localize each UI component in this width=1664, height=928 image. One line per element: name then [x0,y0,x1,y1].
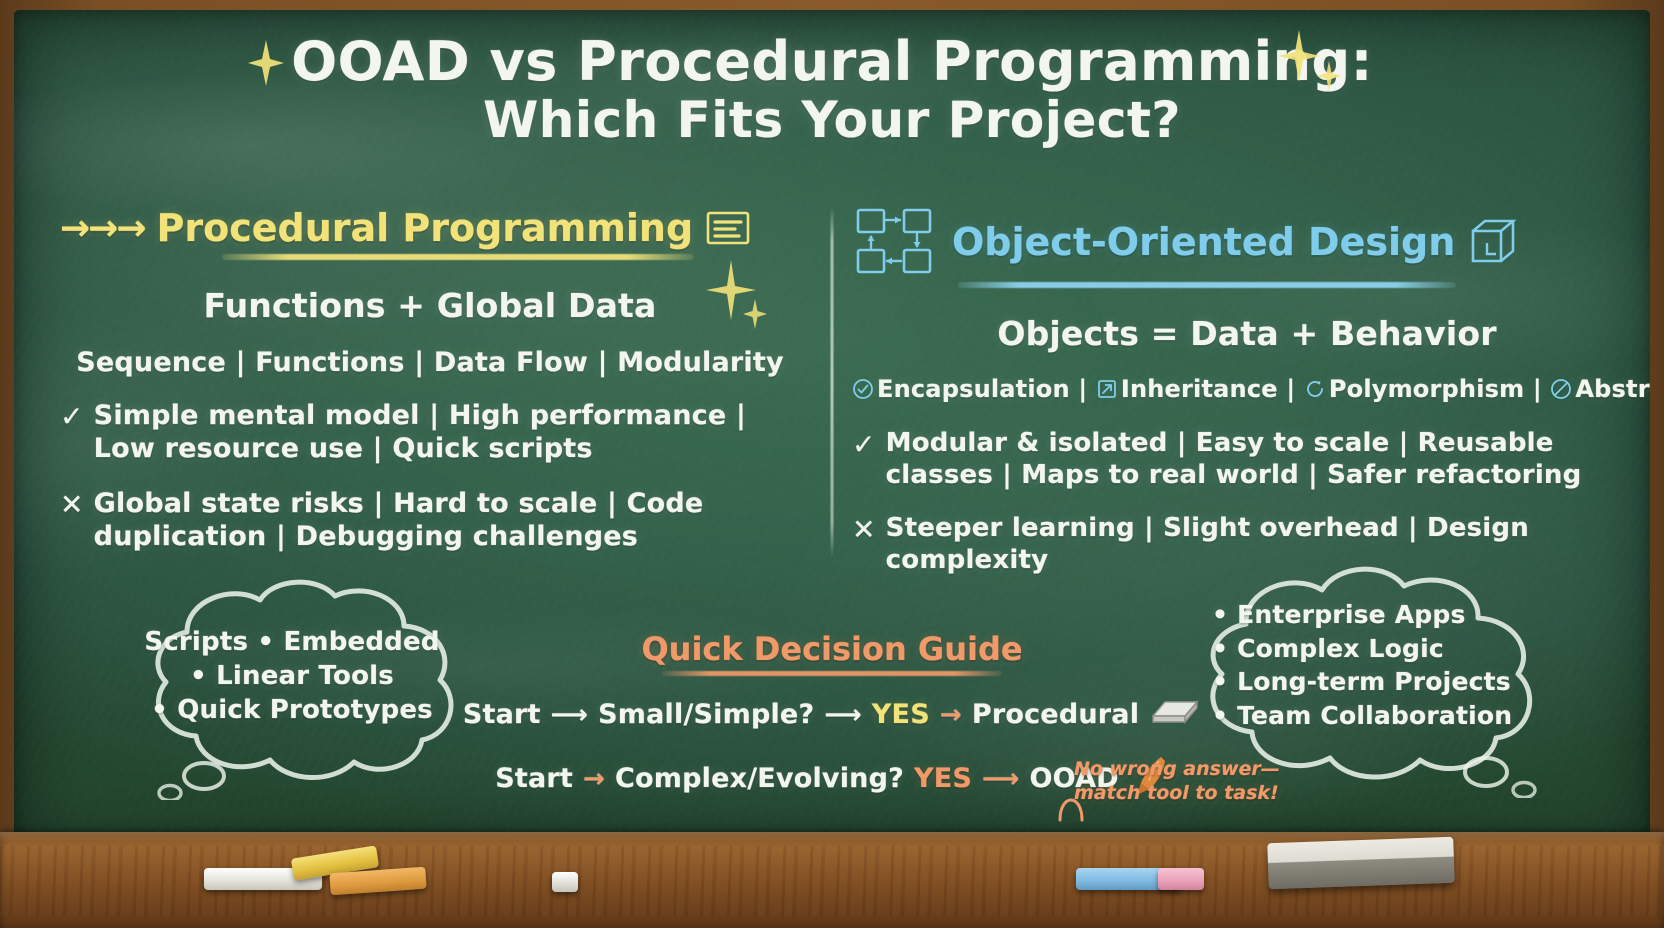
arrow-right-icon: → [940,700,962,730]
triple-arrow-icon: →→→ [60,208,145,249]
cloud-line: • Enterprise Apps [1212,598,1544,632]
chalk-small-white[interactable] [552,872,578,892]
ooad-pros-row: ✓ Modular & isolated | Easy to scale | R… [852,428,1642,491]
chalkboard-infographic: OOAD vs Procedural Programming: Which Fi… [0,0,1664,928]
arrow-right-icon: ⟶ [982,764,1019,794]
check-icon: ✓ [60,400,84,433]
pillar-label-abstraction: Abstraction [1575,375,1650,403]
decision-result: Procedural [972,699,1139,730]
procedural-pros-row: ✓ Simple mental model | High performance… [60,400,800,466]
decision-start: Start [495,763,573,794]
cloud-line: • Team Collaboration [1212,699,1544,733]
arrow-right-icon: ⟶ [824,700,861,730]
column-divider [831,206,834,558]
title-line-1: OOAD vs Procedural Programming: [14,32,1650,92]
decision-question: Complex/Evolving? [615,763,904,794]
note-line-1: No wrong answer— [1074,758,1304,782]
ooad-subtitle: Objects = Data + Behavior [852,314,1642,353]
cloud-line: • Linear Tools [126,660,458,694]
page-title: OOAD vs Procedural Programming: Which Fi… [14,32,1650,148]
arrow-right-icon: ⟶ [551,700,588,730]
procedural-heading: →→→ Procedural Programming [60,206,800,250]
procedural-heading-underline [222,254,694,260]
check-circle-icon [852,378,874,406]
procedural-subtitle: Functions + Global Data [60,286,800,325]
arrow-right-icon: → [583,764,605,794]
note-squiggle-icon [1054,780,1088,824]
title-line-2: Which Fits Your Project? [14,92,1650,148]
document-lines-icon [705,209,751,247]
ooad-pros-text: Modular & isolated | Easy to scale | Reu… [886,428,1642,491]
cloud-line: • Complex Logic [1212,632,1544,666]
check-icon: ✓ [852,428,876,461]
eraser[interactable] [1267,837,1454,889]
pillar-sep: | [1286,375,1295,403]
guide-title-underline [662,671,1002,676]
procedural-usecases-cloud: Scripts • Embedded • Linear Tools • Quic… [92,570,492,800]
ooad-pillars: Encapsulation | Inheritance | [852,375,1642,406]
ooad-column: Object-Oriented Design Objects = Data + … [852,206,1642,577]
arrow-box-icon [1096,378,1118,406]
cube-3d-icon [1467,217,1521,267]
decision-question: Small/Simple? [598,699,814,730]
cloud-line: Scripts • Embedded [126,626,458,660]
procedural-concepts: Sequence | Functions | Data Flow | Modul… [60,347,800,378]
note-line-2: match tool to task! [1074,782,1304,806]
chalk-pink[interactable] [1158,868,1204,890]
ooad-heading: Object-Oriented Design [852,206,1642,278]
pillar-label-inheritance: Inheritance [1121,375,1278,403]
ooad-heading-label: Object-Oriented Design [952,220,1455,264]
cloud-line: • Quick Prototypes [126,694,458,728]
decision-row-1: Start ⟶ Small/Simple? ⟶ YES → Procedural [482,696,1182,733]
slashed-circle-icon [1550,378,1572,406]
pillar-sep: | [1078,375,1087,403]
closing-note: No wrong answer— match tool to task! [1074,758,1304,805]
procedural-pros-text: Simple mental model | High performance |… [94,400,800,466]
procedural-cons-row: ✕ Global state risks | Hard to scale | C… [60,488,800,554]
chalkboard-surface: OOAD vs Procedural Programming: Which Fi… [14,10,1650,850]
pillar-label-encapsulation: Encapsulation [877,375,1070,403]
cross-icon: ✕ [852,513,876,546]
procedural-column: →→→ Procedural Programming Functions + G… [60,206,800,554]
cloud-line: • Long-term Projects [1212,665,1544,699]
procedural-cons-text: Global state risks | Hard to scale | Cod… [94,488,800,554]
guide-title: Quick Decision Guide [482,630,1182,668]
decision-answer: YES [872,699,930,730]
eraser-icon [1149,696,1201,733]
decision-answer: YES [914,763,972,794]
refresh-cycle-icon [1304,378,1326,406]
pillar-label-polymorphism: Polymorphism [1329,375,1524,403]
procedural-heading-label: Procedural Programming [157,206,694,250]
node-graph-icon [852,206,938,278]
ooad-usecases-text: • Enterprise Apps • Complex Logic • Long… [1154,598,1574,732]
decision-start: Start [463,699,541,730]
cross-icon: ✕ [60,488,84,521]
ooad-heading-underline [958,282,1456,288]
procedural-usecases-text: Scripts • Embedded • Linear Tools • Quic… [92,626,492,727]
pillar-sep: | [1533,375,1542,403]
